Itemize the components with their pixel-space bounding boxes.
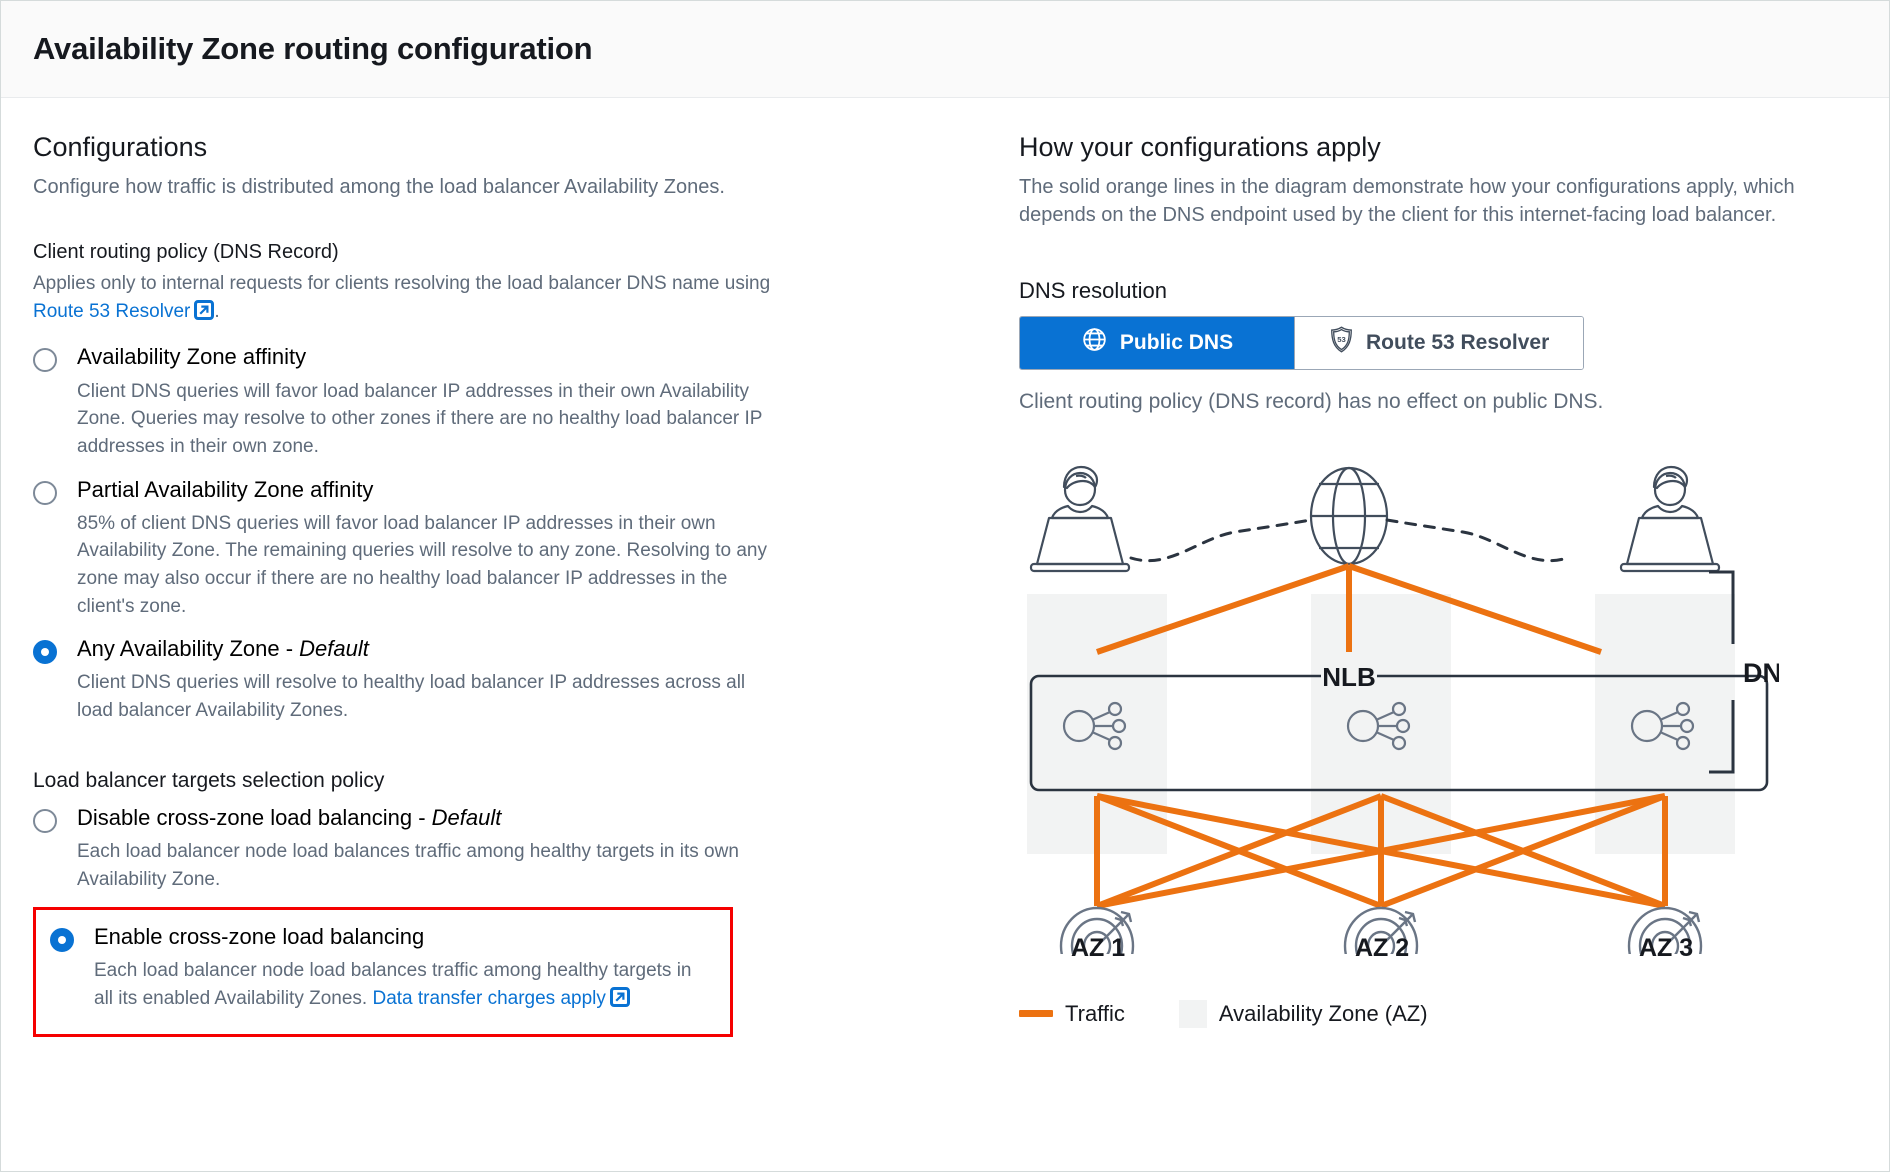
cross-zone-traffic-lines: [1097, 796, 1665, 906]
radio-disable-cross-zone-desc: Each load balancer node load balances tr…: [77, 838, 777, 893]
radio-az-affinity-title: Availability Zone affinity: [77, 344, 777, 370]
enable-cross-zone-highlight-box: Enable cross-zone load balancing Each lo…: [33, 907, 733, 1036]
legend-item-traffic: Traffic: [1019, 1001, 1125, 1027]
globe-icon: [1081, 326, 1108, 359]
external-link-icon: [194, 300, 214, 329]
page-title: Availability Zone routing configuration: [33, 31, 592, 67]
segment-public-dns-label: Public DNS: [1120, 331, 1233, 355]
radio-az-affinity[interactable]: Availability Zone affinity Client DNS qu…: [33, 344, 893, 460]
segment-route-53-resolver[interactable]: 53 Route 53 Resolver: [1294, 317, 1583, 369]
legend-traffic-label: Traffic: [1065, 1001, 1125, 1027]
client-to-internet-dashed-lines: [1131, 520, 1567, 561]
how-configurations-apply-column: How your configurations apply The solid …: [893, 132, 1857, 1037]
segment-route-53-resolver-label: Route 53 Resolver: [1366, 331, 1549, 355]
radio-any-az-title-text: Any Availability Zone -: [77, 636, 299, 661]
client-routing-policy-hint: Applies only to internal requests for cl…: [33, 270, 793, 328]
az-label-2: AZ 2: [1355, 934, 1409, 963]
how-apply-description: The solid orange lines in the diagram de…: [1019, 173, 1857, 230]
radio-partial-az-affinity[interactable]: Partial Availability Zone affinity 85% o…: [33, 477, 893, 621]
radio-disable-cross-zone[interactable]: Disable cross-zone load balancing - Defa…: [33, 805, 893, 893]
radio-partial-az-affinity-title: Partial Availability Zone affinity: [77, 477, 777, 503]
radio-partial-az-affinity-mark[interactable]: [33, 481, 57, 505]
traffic-line-swatch: [1019, 1010, 1053, 1017]
radio-enable-cross-zone[interactable]: Enable cross-zone load balancing Each lo…: [50, 924, 714, 1015]
routing-diagram: NLB: [1019, 454, 1779, 994]
routing-diagram-svg: NLB: [1019, 454, 1779, 954]
radio-any-az-title: Any Availability Zone - Default: [77, 636, 777, 662]
route-53-resolver-link-label: Route 53 Resolver: [33, 301, 190, 322]
radio-disable-cross-zone-mark[interactable]: [33, 809, 57, 833]
nlb-label: NLB: [1322, 662, 1375, 692]
content-columns: Configurations Configure how traffic is …: [1, 98, 1889, 1037]
how-apply-heading: How your configurations apply: [1019, 132, 1857, 163]
data-transfer-charges-link-label: Data transfer charges apply: [372, 988, 605, 1009]
radio-enable-cross-zone-title: Enable cross-zone load balancing: [94, 924, 714, 950]
radio-partial-az-affinity-desc: 85% of client DNS queries will favor loa…: [77, 510, 777, 620]
dns-traffic-lines: [1097, 566, 1601, 652]
radio-disable-cross-zone-title: Disable cross-zone load balancing - Defa…: [77, 805, 777, 831]
client-laptop-left-icon: [1031, 467, 1129, 571]
az-label-3: AZ 3: [1639, 934, 1693, 963]
radio-any-az-mark[interactable]: [33, 640, 57, 664]
client-laptop-right-icon: [1621, 467, 1719, 571]
radio-enable-cross-zone-desc: Each load balancer node load balances tr…: [94, 957, 714, 1015]
radio-disable-cross-zone-title-text: Disable cross-zone load balancing -: [77, 805, 432, 830]
route-53-resolver-link[interactable]: Route 53 Resolver: [33, 301, 214, 322]
radio-any-az[interactable]: Any Availability Zone - Default Client D…: [33, 636, 893, 724]
targets-selection-policy-label: Load balancer targets selection policy: [33, 769, 893, 793]
panel-header: Availability Zone routing configuration: [1, 1, 1889, 98]
radio-any-az-default-tag: Default: [299, 636, 369, 661]
dns-bracket-label: DNS: [1743, 658, 1779, 688]
segment-public-dns[interactable]: Public DNS: [1020, 317, 1294, 369]
configurations-description: Configure how traffic is distributed amo…: [33, 173, 893, 201]
hint-text-before: Applies only to internal requests for cl…: [33, 273, 770, 294]
route53-shield-icon: 53: [1329, 326, 1354, 359]
legend-az-label: Availability Zone (AZ): [1219, 1001, 1428, 1027]
configurations-heading: Configurations: [33, 132, 893, 163]
diagram-legend: Traffic Availability Zone (AZ): [1019, 1000, 1857, 1028]
az-label-1: AZ 1: [1071, 934, 1125, 963]
legend-item-availability-zone: Availability Zone (AZ): [1179, 1000, 1428, 1028]
configurations-column: Configurations Configure how traffic is …: [33, 132, 893, 1037]
external-link-icon: [610, 987, 630, 1016]
radio-az-affinity-mark[interactable]: [33, 348, 57, 372]
radio-enable-cross-zone-mark[interactable]: [50, 928, 74, 952]
dns-resolution-segmented-control[interactable]: Public DNS 53 Route 53 Resolver: [1019, 316, 1584, 370]
dns-effect-note: Client routing policy (DNS record) has n…: [1019, 390, 1857, 414]
internet-globe-icon: [1311, 468, 1387, 564]
radio-any-az-desc: Client DNS queries will resolve to healt…: [77, 669, 777, 724]
radio-az-affinity-desc: Client DNS queries will favor load balan…: [77, 378, 777, 461]
client-routing-policy-label: Client routing policy (DNS Record): [33, 241, 893, 264]
data-transfer-charges-link[interactable]: Data transfer charges apply: [372, 988, 629, 1009]
availability-zone-swatch: [1179, 1000, 1207, 1028]
radio-disable-cross-zone-default-tag: Default: [432, 805, 502, 830]
svg-text:53: 53: [1337, 335, 1346, 344]
az-routing-configuration-page: Availability Zone routing configuration …: [0, 0, 1890, 1172]
hint-text-after: .: [214, 301, 219, 322]
dns-resolution-label: DNS resolution: [1019, 278, 1857, 304]
